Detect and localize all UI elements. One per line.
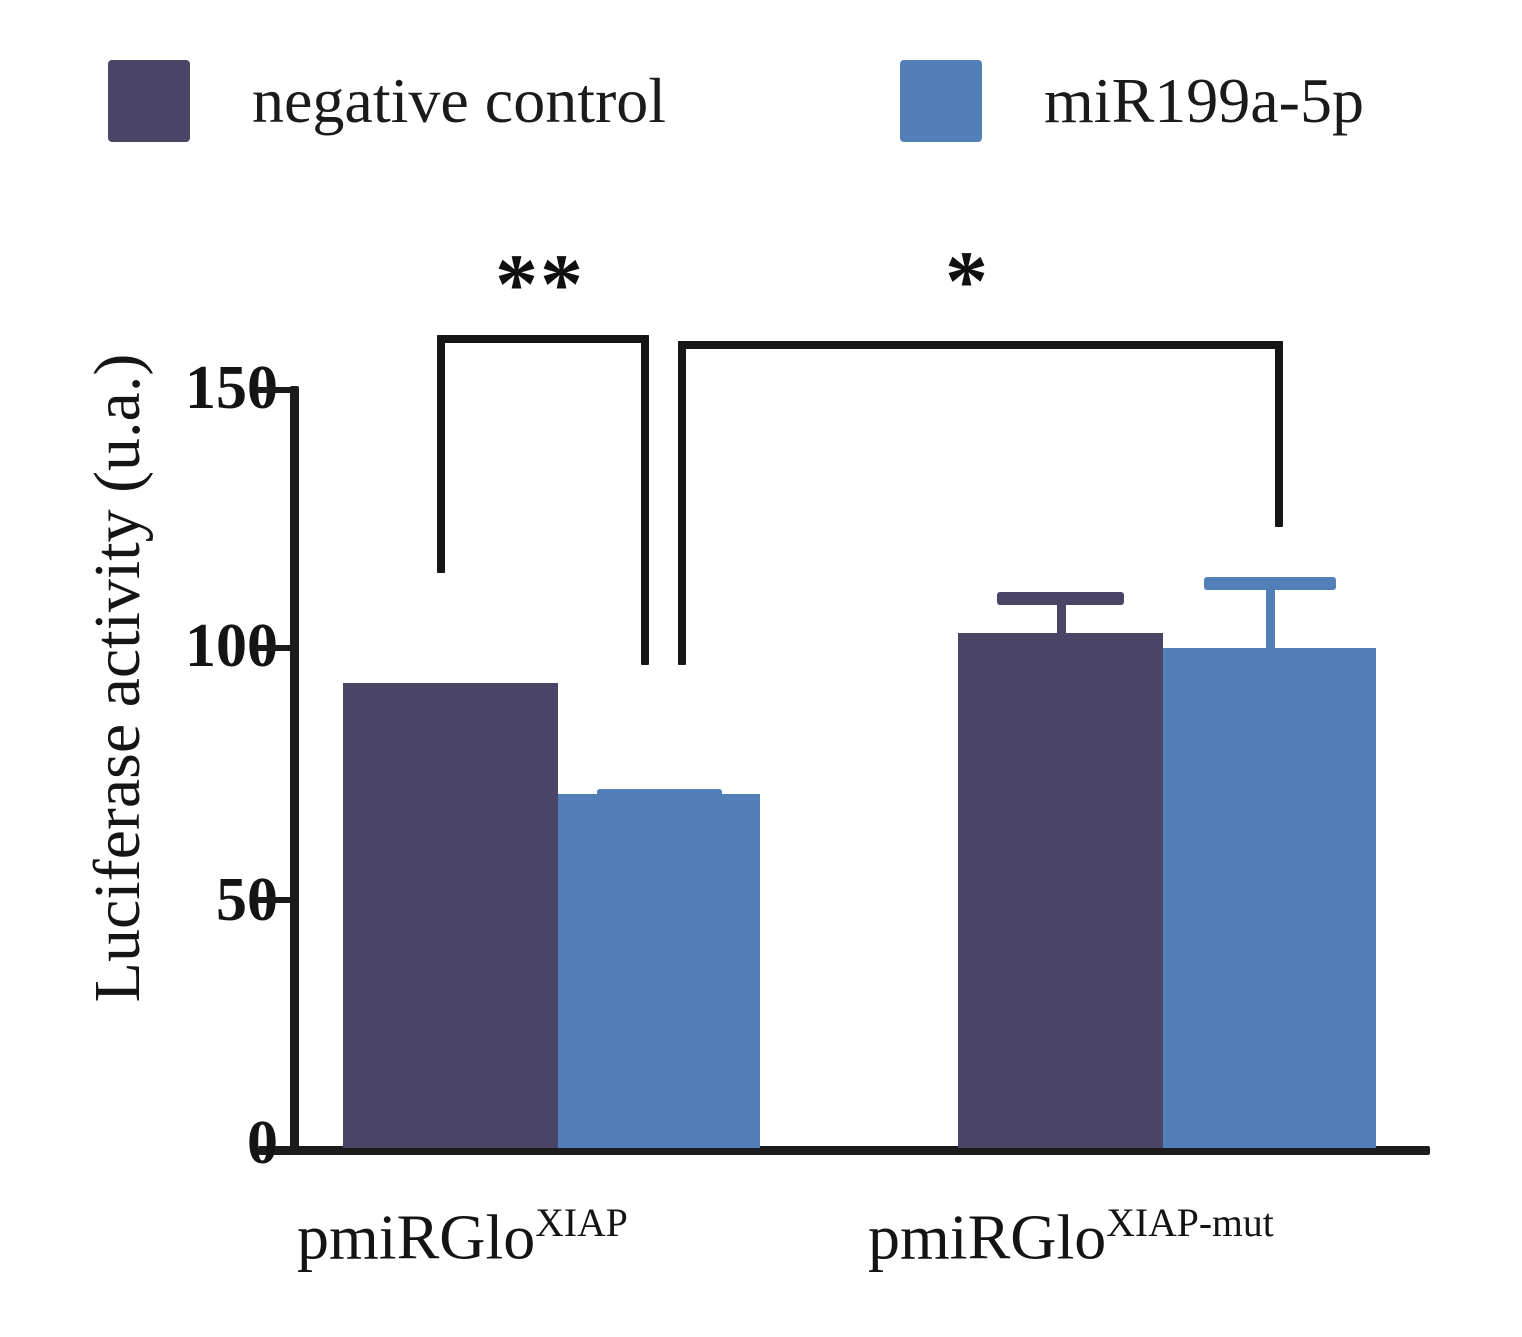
chart-legend: negative control miR199a-5p	[0, 60, 1522, 170]
x-axis-category-superscript-1: XIAP	[535, 1201, 628, 1245]
y-tick-mark-50	[256, 897, 296, 903]
significance-bracket-2-top	[678, 341, 1283, 349]
significance-bracket-1-right-leg	[641, 335, 649, 665]
significance-marker-2: *	[945, 238, 990, 324]
y-tick-mark-150	[256, 387, 296, 393]
x-axis-category-label-2: pmiRGloXIAP-mut	[868, 1204, 1274, 1269]
bar-1-negative-control	[343, 683, 558, 1148]
error-bar-cap-2-2	[1204, 577, 1336, 590]
y-axis-line	[290, 386, 299, 1152]
legend-label-negative-control: negative control	[252, 69, 666, 133]
y-tick-label-150: 150	[108, 357, 278, 419]
y-tick-label-50: 50	[108, 869, 278, 931]
legend-label-mir199a-5p: miR199a-5p	[1044, 69, 1364, 133]
bar-2-negative-control	[958, 633, 1163, 1148]
legend-swatch-mir199a-5p	[900, 60, 982, 142]
bar-1-mir199a-5p	[558, 794, 760, 1148]
x-axis-category-label-1: pmiRGloXIAP	[297, 1204, 628, 1269]
y-tick-label-0: 0	[108, 1112, 278, 1174]
x-axis-category-superscript-2: XIAP-mut	[1106, 1201, 1274, 1245]
error-bar-cap-1-2	[597, 789, 722, 802]
significance-bracket-1-left-leg	[437, 335, 445, 573]
significance-marker-1: **	[495, 241, 585, 327]
luciferase-activity-bar-chart: negative control miR199a-5p Luciferase a…	[0, 0, 1522, 1337]
x-axis-category-base-2: pmiRGlo	[868, 1201, 1106, 1272]
significance-bracket-1-top	[437, 335, 649, 343]
error-bar-cap-2-1	[997, 592, 1124, 605]
x-axis-category-base-1: pmiRGlo	[297, 1201, 535, 1272]
bar-2-mir199a-5p	[1163, 648, 1376, 1148]
legend-swatch-negative-control	[108, 60, 190, 142]
legend-item-negative-control[interactable]: negative control	[108, 60, 666, 142]
legend-item-mir199a-5p[interactable]: miR199a-5p	[900, 60, 1364, 142]
significance-bracket-2-right-leg	[1275, 341, 1283, 527]
y-tick-label-100: 100	[108, 615, 278, 677]
significance-bracket-2-left-leg	[678, 341, 686, 665]
y-tick-mark-100	[256, 645, 296, 651]
